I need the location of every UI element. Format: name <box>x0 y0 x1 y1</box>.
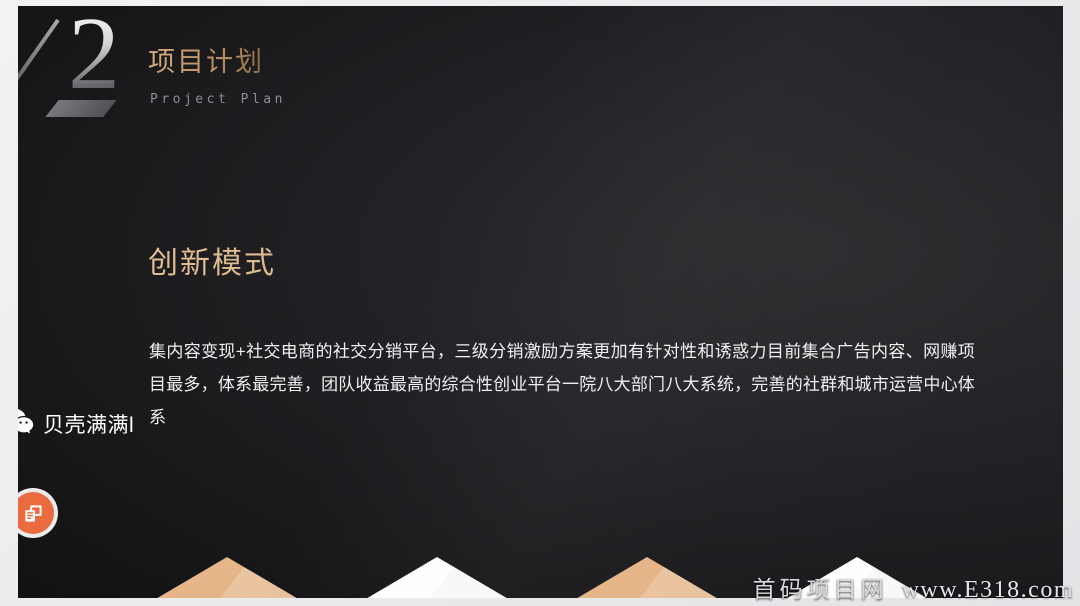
hexagon-shape <box>568 557 726 598</box>
screenshot-stage: 2 项目计划 Project Plan 创新模式 集内容变现+社交电商的社交分销… <box>0 0 1080 606</box>
wechat-watermark: 贝壳满满l <box>18 407 1045 440</box>
hexagon-shape <box>358 557 516 598</box>
header-title-en: Project Plan <box>150 92 286 107</box>
section-heading: 创新模式 <box>148 238 1063 282</box>
presentation-slide: 2 项目计划 Project Plan 创新模式 集内容变现+社交电商的社交分销… <box>18 6 1063 598</box>
wechat-icon <box>18 407 34 440</box>
hexagon-item-1: 社交 <box>148 557 306 598</box>
hexagon-row: 社交 + 广告 + 社群 + 优惠 <box>148 555 948 598</box>
hexagon-shape <box>148 557 306 598</box>
powerpoint-icon[interactable] <box>18 492 54 534</box>
slide-header: 2 项目计划 Project Plan <box>40 14 460 124</box>
wechat-account-name: 贝壳满满l <box>43 409 134 439</box>
hexagon-item-3: 社群 <box>568 557 726 598</box>
slide-number: 2 <box>68 6 120 106</box>
hexagon-item-2: 广告 <box>358 557 516 598</box>
header-title-cn: 项目计划 <box>148 40 264 79</box>
hexagon-shape <box>778 557 936 598</box>
hexagon-item-4: 优惠 <box>778 557 936 598</box>
